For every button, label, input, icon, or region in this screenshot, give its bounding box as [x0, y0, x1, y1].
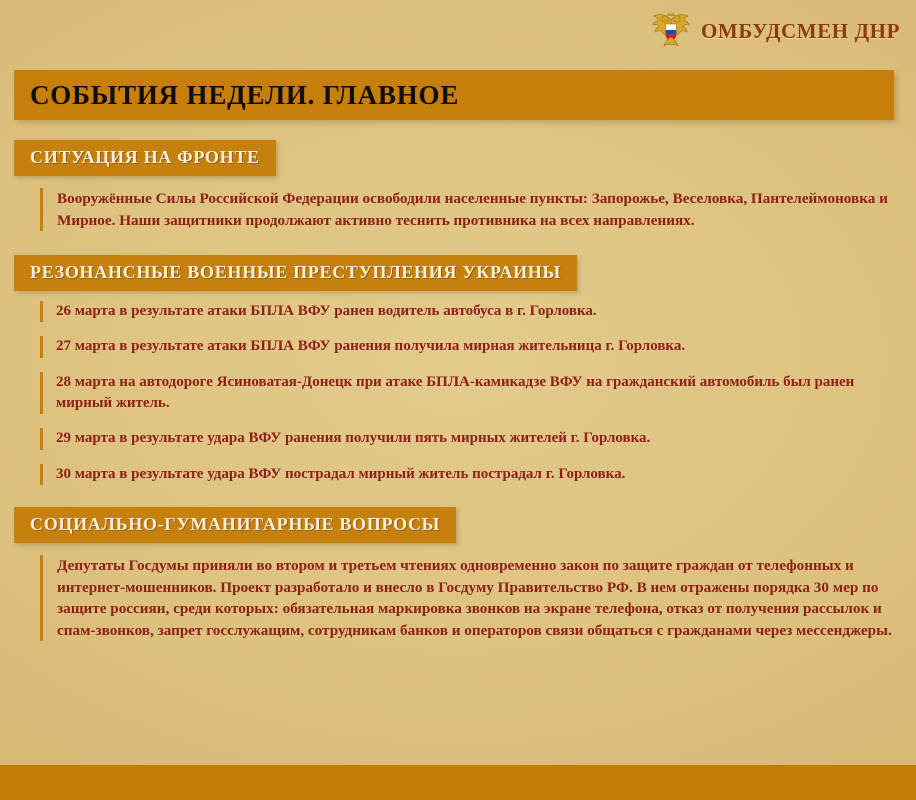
- section-war-crimes: РЕЗОНАНСНЫЕ ВОЕННЫЕ ПРЕСТУПЛЕНИЯ УКРАИНЫ…: [0, 255, 916, 485]
- section-body-social-humanitarian: Депутаты Госдумы приняли во втором и тре…: [40, 555, 898, 641]
- brand-header: ОМБУДСМЕН ДНР: [651, 8, 900, 54]
- double-headed-eagle-emblem-icon: [651, 11, 691, 51]
- section-front-situation: СИТУАЦИЯ НА ФРОНТЕ Вооружённые Силы Росс…: [0, 140, 916, 231]
- list-item: 29 марта в результате удара ВФУ ранения …: [40, 428, 898, 449]
- spacer: [0, 499, 916, 507]
- section-body-front-situation: Вооружённые Силы Российской Федерации ос…: [40, 188, 898, 231]
- section-social-humanitarian: СОЦИАЛЬНО-ГУМАНИТАРНЫЕ ВОПРОСЫ Депутаты …: [0, 507, 916, 641]
- main-title-banner: СОБЫТИЯ НЕДЕЛИ. ГЛАВНОЕ: [14, 70, 894, 120]
- list-item: 27 марта в результате атаки БПЛА ВФУ ран…: [40, 336, 898, 357]
- list-item: 26 марта в результате атаки БПЛА ВФУ ран…: [40, 301, 898, 322]
- content-stack: СИТУАЦИЯ НА ФРОНТЕ Вооружённые Силы Росс…: [0, 140, 916, 647]
- footer-bar: [0, 765, 916, 800]
- section-heading-front-situation: СИТУАЦИЯ НА ФРОНТЕ: [14, 140, 276, 176]
- paragraph-front-situation: Вооружённые Силы Российской Федерации ос…: [57, 188, 898, 231]
- war-crimes-list: 26 марта в результате атаки БПЛА ВФУ ран…: [0, 301, 916, 485]
- spacer: [0, 237, 916, 255]
- brand-title: ОМБУДСМЕН ДНР: [701, 19, 900, 44]
- section-heading-social-humanitarian: СОЦИАЛЬНО-ГУМАНИТАРНЫЕ ВОПРОСЫ: [14, 507, 456, 543]
- list-item: 28 марта на автодороге Ясиноватая-Донецк…: [40, 372, 898, 415]
- section-heading-war-crimes: РЕЗОНАНСНЫЕ ВОЕННЫЕ ПРЕСТУПЛЕНИЯ УКРАИНЫ: [14, 255, 577, 291]
- paragraph-social-humanitarian: Депутаты Госдумы приняли во втором и тре…: [57, 555, 898, 641]
- list-item: 30 марта в результате удара ВФУ пострада…: [40, 464, 898, 485]
- page-title: СОБЫТИЯ НЕДЕЛИ. ГЛАВНОЕ: [14, 80, 459, 111]
- poster-root: ОМБУДСМЕН ДНР СОБЫТИЯ НЕДЕЛИ. ГЛАВНОЕ СИ…: [0, 0, 916, 800]
